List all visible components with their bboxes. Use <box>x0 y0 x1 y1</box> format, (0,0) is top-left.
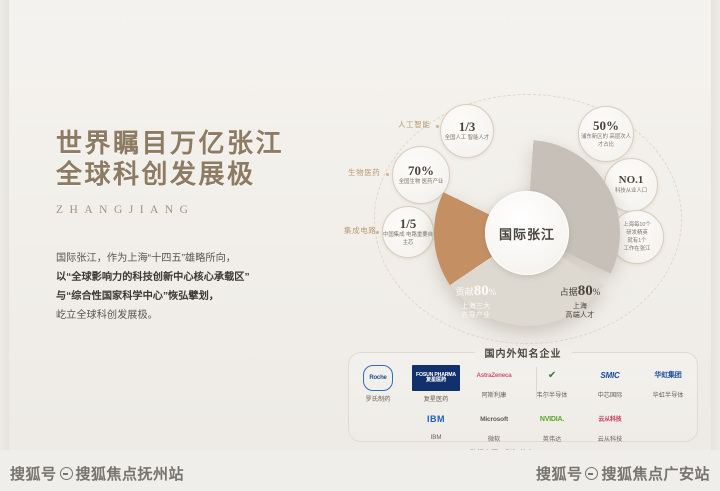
segment-label-talent: 占据80% 上海 高端人才 <box>538 282 622 320</box>
callout-caption: 科技从业人口 <box>615 188 647 196</box>
segment-value-industry: 贡献80% <box>434 282 518 301</box>
callout-value: 1/3 <box>459 120 476 133</box>
donut-chart: 人工智能 生物医药 集成电路 1/3 全国人工 智能人才 70% 全国生物 医药… <box>338 86 720 346</box>
body-copy: 国际张江，作为上海“十四五”雄略所向， 以“全球影响力的科技创新中心核心承载区”… <box>56 249 326 325</box>
callout-value: 1/5 <box>400 217 417 230</box>
watermark-right-prefix: 搜狐号 <box>536 463 583 484</box>
partner-spacer <box>639 409 697 443</box>
category-label-ai: 人工智能 <box>398 119 430 130</box>
category-label-ic: 集成电路 <box>344 225 376 236</box>
callout-caption: 浦东新区的 高层次人才占比 <box>579 134 633 150</box>
watermark-right-name: 搜狐焦点广安站 <box>601 463 710 484</box>
callout-bubble-ic: 1/5 中国集成 电路重要自主芯 <box>382 206 434 258</box>
body-line-2: 以“全球影响力的科技创新中心核心承载区” <box>56 268 326 287</box>
partner-roche: Roche 罗氏制药 <box>349 365 407 403</box>
partner-smic: SMIC 中芯国际 <box>581 365 639 403</box>
left-edge-strip <box>0 0 9 491</box>
fosun-logo-icon: FOSUN PHARMA 复星医药 <box>412 365 460 391</box>
callout-caption: 中国集成 电路重要自主芯 <box>383 232 433 248</box>
callout-caption: 上海每10个 研发精英 就有1个 工作在张江 <box>623 222 651 253</box>
partner-huahong: 华虹集团 华虹半导体 <box>639 365 697 403</box>
body-line-3: 与“综合性国家科学中心”恢弘擘划， <box>56 287 326 306</box>
callout-value: 50% <box>593 119 619 132</box>
nvidia-logo-icon: NVIDIA. <box>540 409 564 431</box>
partner-name: 韦尔半导体 <box>537 390 568 399</box>
watermark-left: 搜狐号 搜狐焦点抚州站 <box>10 463 184 484</box>
callout-bubble-talent-ratio: 50% 浦东新区的 高层次人才占比 <box>578 106 634 162</box>
partner-name: 微软 <box>488 434 500 443</box>
partner-name: 罗氏制药 <box>366 394 391 403</box>
partner-name: 复星医药 <box>424 394 449 403</box>
partner-name: 阿斯利康 <box>482 390 507 399</box>
watermark-right: 搜狐号 搜狐焦点广安站 <box>536 463 710 484</box>
segment-label-industry: 贡献80% 上海三大 先导产业 <box>434 282 518 320</box>
segment-sub-talent: 上海 高端人才 <box>538 303 622 321</box>
headline-block: 世界瞩目万亿张江 全球科创发展极 ZHANGJIANG 国际张江，作为上海“十四… <box>56 128 326 325</box>
partner-spacer <box>349 409 407 443</box>
partners-panel: 国内外知名企业 Roche 罗氏制药 FOSUN PHARMA 复星医药 复星医… <box>348 352 698 442</box>
huahong-logo-icon: 华虹集团 <box>654 365 681 387</box>
partner-astrazeneca: AstraZeneca 阿斯利康 <box>465 365 523 403</box>
callout-value: NO.1 <box>619 175 644 186</box>
watermark-left-prefix: 搜狐号 <box>10 463 57 484</box>
partner-row-1: Roche 罗氏制药 FOSUN PHARMA 复星医药 复星医药 AstraZ… <box>349 365 697 403</box>
partner-name: 云从科技 <box>598 434 623 443</box>
page-title: 世界瞩目万亿张江 全球科创发展极 <box>56 128 326 190</box>
donut-center-label: 国际张江 <box>499 224 555 243</box>
partner-cloudwalk: 云从科技 云从科技 <box>581 409 639 443</box>
partner-name: 中芯国际 <box>598 390 623 399</box>
partner-name: IBM <box>430 434 441 441</box>
ibm-logo-icon: IBM <box>427 409 445 431</box>
roche-logo-icon: Roche <box>363 365 392 391</box>
partner-will: ✔ 韦尔半导体 <box>523 365 581 403</box>
copyright-icon <box>585 467 598 480</box>
callout-caption: 全国人工 智能人才 <box>445 135 490 143</box>
watermark-left-name: 搜狐焦点抚州站 <box>76 463 185 484</box>
partner-nvidia: NVIDIA. 英伟达 <box>523 409 581 443</box>
partners-title-text: 国内外知名企业 <box>475 349 572 360</box>
category-dot-bio <box>386 173 389 176</box>
body-line-4: 屹立全球科创发展极。 <box>56 306 326 325</box>
callout-caption: 全国生物 医药产业 <box>399 179 444 187</box>
astrazeneca-logo-icon: AstraZeneca <box>477 365 512 387</box>
segment-sub-industry: 上海三大 先导产业 <box>434 303 518 321</box>
category-dot-ai <box>436 125 439 128</box>
smic-logo-icon: SMIC <box>600 365 619 387</box>
segment-value-talent: 占据80% <box>538 282 622 301</box>
will-semiconductor-logo-icon: ✔ <box>548 365 556 387</box>
pinyin-subtitle: ZHANGJIANG <box>56 204 326 216</box>
callout-value: 70% <box>408 164 434 177</box>
partner-logo-grid: Roche 罗氏制药 FOSUN PHARMA 复星医药 复星医药 AstraZ… <box>349 365 697 443</box>
body-line-1: 国际张江，作为上海“十四五”雄略所向， <box>56 249 326 268</box>
partner-microsoft: Microsoft 微软 <box>465 409 523 443</box>
partner-fosun: FOSUN PHARMA 复星医药 复星医药 <box>407 365 465 403</box>
category-label-bio: 生物医药 <box>348 167 380 178</box>
partner-name: 华虹半导体 <box>653 390 684 399</box>
category-dot-ic <box>376 231 379 234</box>
partner-ibm: IBM IBM <box>407 409 465 443</box>
partners-title: 国内外知名企业 <box>349 344 697 362</box>
microsoft-logo-icon: Microsoft <box>480 409 508 431</box>
copyright-icon <box>60 467 73 480</box>
top-band <box>0 0 720 16</box>
donut-center: 国际张江 <box>485 191 569 275</box>
partner-row-2: IBM IBM Microsoft 微软 NVIDIA. 英伟达 云从科技 云从… <box>349 409 697 443</box>
cloudwalk-logo-icon: 云从科技 <box>598 409 621 431</box>
partner-name: 英伟达 <box>543 434 562 443</box>
poster-page: 世界瞩目万亿张江 全球科创发展极 ZHANGJIANG 国际张江，作为上海“十四… <box>0 0 720 491</box>
